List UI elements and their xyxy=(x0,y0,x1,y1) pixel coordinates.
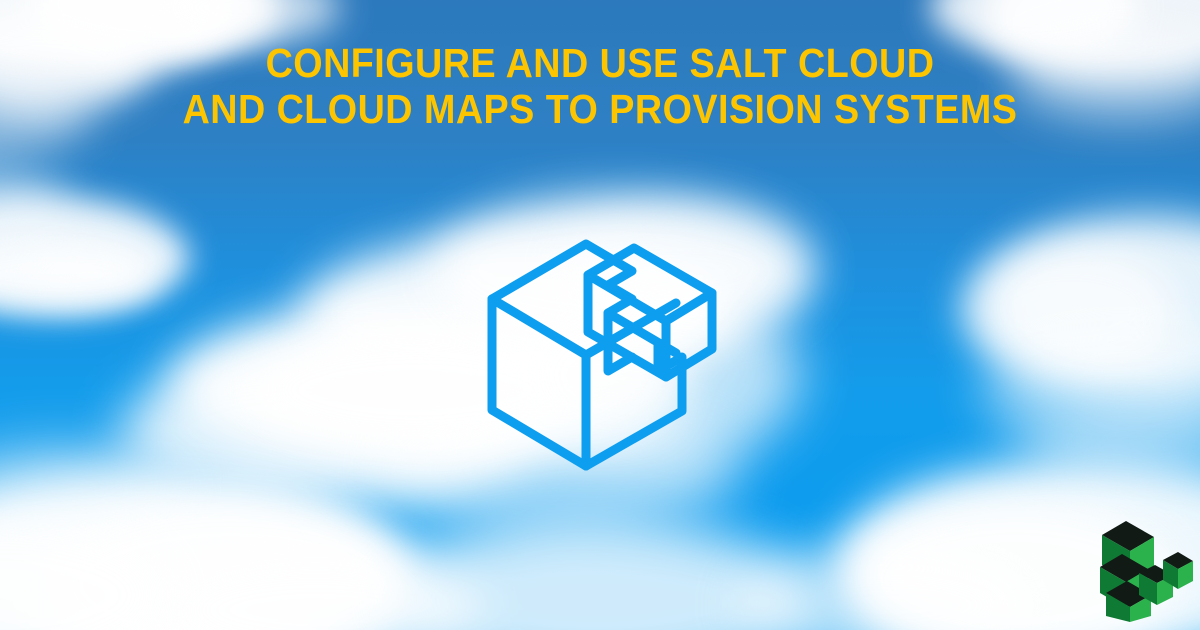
brand-logo[interactable] xyxy=(1094,517,1194,622)
banner-canvas: CONFIGURE AND USE SALT CLOUD AND CLOUD M… xyxy=(0,0,1200,630)
headline-line-2: AND CLOUD MAPS TO PROVISION SYSTEMS xyxy=(48,86,1152,132)
isometric-cube-icon xyxy=(470,225,740,490)
headline-block: CONFIGURE AND USE SALT CLOUD AND CLOUD M… xyxy=(0,40,1200,132)
headline-line-1: CONFIGURE AND USE SALT CLOUD xyxy=(48,40,1152,86)
